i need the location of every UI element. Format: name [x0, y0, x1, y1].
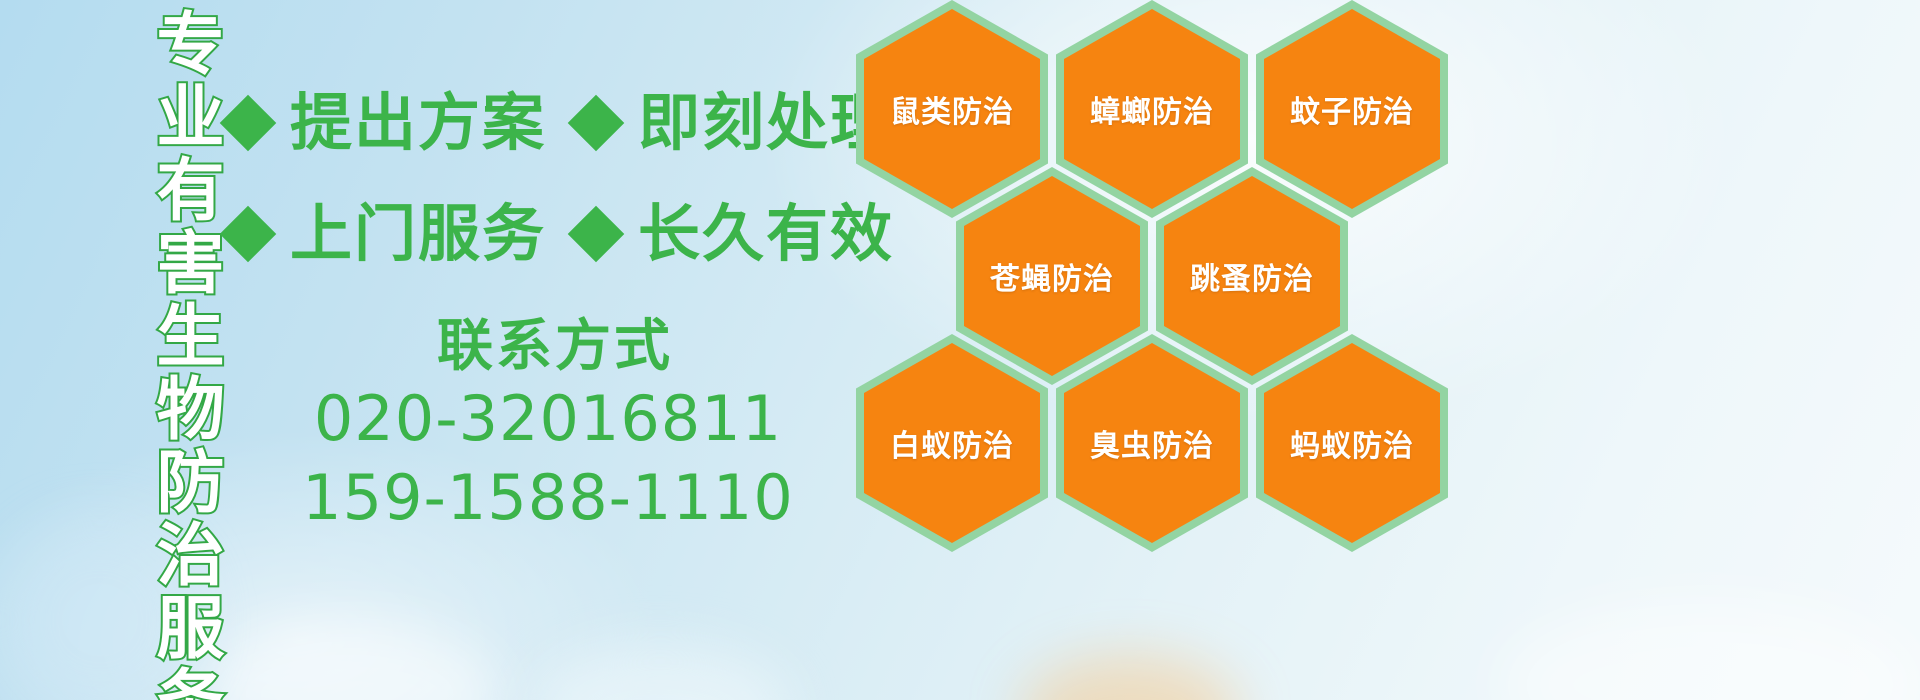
service-label: 苍蝇防治 — [990, 254, 1114, 298]
service-hex-bedbug[interactable]: 臭虫防治 — [1056, 334, 1248, 552]
background-bokeh-blob — [200, 620, 500, 700]
background-bokeh-blob — [530, 645, 790, 700]
phone-number-mobile[interactable]: 159-1588-1110 — [228, 458, 868, 537]
feature-label: 上门服务 — [290, 203, 546, 265]
hexagon-inner: 臭虫防治 — [1064, 343, 1240, 543]
diamond-icon — [568, 95, 625, 152]
vertical-headline: 专业有害生物防治服务 — [108, 8, 218, 692]
service-label: 臭虫防治 — [1090, 421, 1214, 465]
service-hex-fly[interactable]: 苍蝇防治 — [956, 167, 1148, 385]
feature-label: 提出方案 — [290, 92, 546, 154]
service-hex-rodent[interactable]: 鼠类防治 — [856, 0, 1048, 218]
service-hex-ant[interactable]: 蚂蚁防治 — [1256, 334, 1448, 552]
contact-label: 联系方式 — [242, 316, 868, 379]
contact-block: 联系方式 020-32016811 159-1588-1110 — [228, 316, 868, 537]
hexagon-inner: 蟑螂防治 — [1064, 9, 1240, 209]
diamond-icon — [568, 206, 625, 263]
phone-number-landline[interactable]: 020-32016811 — [228, 379, 868, 458]
service-label: 蚂蚁防治 — [1290, 421, 1414, 465]
service-label: 跳蚤防治 — [1190, 254, 1314, 298]
hexagon-inner: 苍蝇防治 — [964, 176, 1140, 376]
diamond-icon — [220, 95, 277, 152]
service-hex-termite[interactable]: 白蚁防治 — [856, 334, 1048, 552]
background-bokeh-blob — [1500, 600, 1920, 700]
hexagon-inner: 鼠类防治 — [864, 9, 1040, 209]
service-hex-cockroach[interactable]: 蟑螂防治 — [1056, 0, 1248, 218]
hexagon-inner: 白蚁防治 — [864, 343, 1040, 543]
feature-row: 提出方案 即刻处理 — [228, 92, 894, 154]
promo-banner: 专业有害生物防治服务 提出方案 即刻处理 上门服务 长久有效 联系方式 020-… — [0, 0, 1920, 700]
service-label: 白蚁防治 — [890, 421, 1014, 465]
diamond-icon — [220, 206, 277, 263]
service-honeycomb: 鼠类防治 蟑螂防治 蚊子防治 苍蝇防治 跳蚤防治 白蚁防治 — [848, 0, 1488, 700]
service-hex-mosquito[interactable]: 蚊子防治 — [1256, 0, 1448, 218]
service-label: 鼠类防治 — [890, 87, 1014, 131]
service-hex-flea[interactable]: 跳蚤防治 — [1156, 167, 1348, 385]
hexagon-inner: 跳蚤防治 — [1164, 176, 1340, 376]
hexagon-inner: 蚂蚁防治 — [1264, 343, 1440, 543]
service-label: 蟑螂防治 — [1090, 87, 1214, 131]
service-label: 蚊子防治 — [1290, 87, 1414, 131]
hexagon-inner: 蚊子防治 — [1264, 9, 1440, 209]
feature-row: 上门服务 长久有效 — [228, 203, 894, 265]
